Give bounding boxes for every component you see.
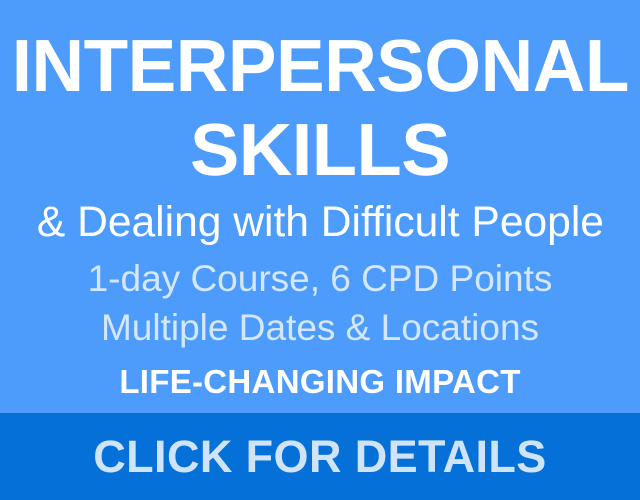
headline-primary-line-2: SKILLS: [190, 113, 450, 187]
course-advertisement-banner[interactable]: INTERPERSONAL SKILLS & Dealing with Diff…: [0, 0, 640, 500]
headline-primary-line-1: INTERPERSONAL: [11, 29, 628, 103]
impact-tagline: LIFE-CHANGING IMPACT: [119, 364, 520, 399]
course-detail-dates-locations: Multiple Dates & Locations: [101, 308, 539, 347]
course-detail-duration-credits: 1-day Course, 6 CPD Points: [88, 259, 553, 298]
banner-content: INTERPERSONAL SKILLS & Dealing with Diff…: [0, 0, 640, 413]
cta-button[interactable]: CLICK FOR DETAILS: [0, 413, 640, 500]
headline-subtitle: & Dealing with Difficult People: [36, 200, 603, 245]
cta-button-label: CLICK FOR DETAILS: [93, 433, 546, 480]
